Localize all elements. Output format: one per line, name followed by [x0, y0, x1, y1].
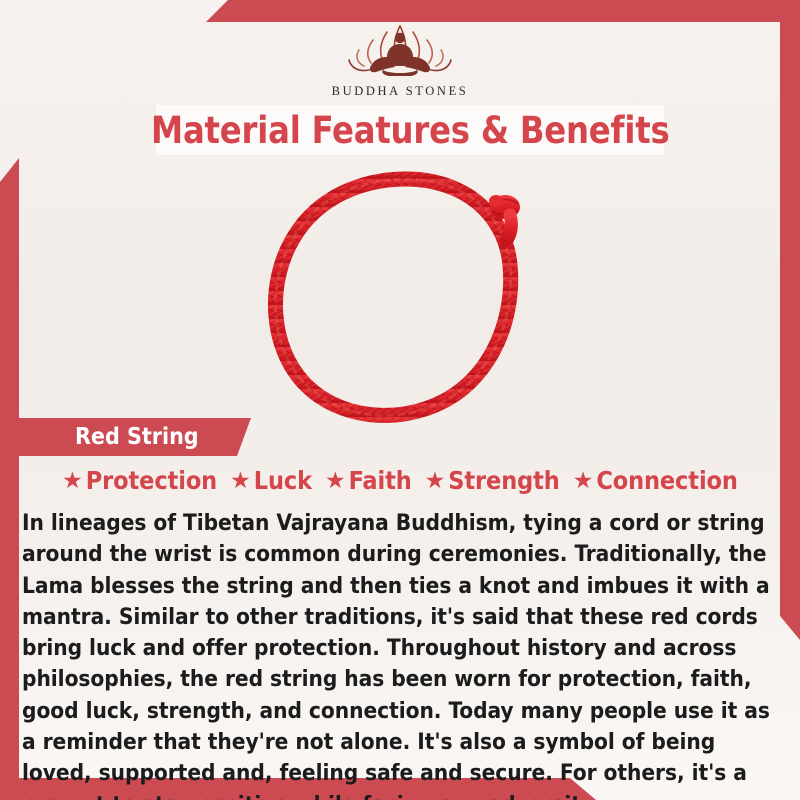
- feature-item-faith: ★ Faith: [325, 466, 412, 495]
- star-icon: ★: [230, 469, 251, 492]
- feature-label: Luck: [254, 466, 312, 495]
- brand-logo-block: BUDDHA STONES: [0, 16, 800, 99]
- page-title: Material Features & Benefits: [151, 109, 669, 152]
- description-paragraph: In lineages of Tibetan Vajrayana Buddhis…: [22, 508, 778, 800]
- lotus-meditation-icon: [325, 16, 475, 82]
- feature-label: Connection: [596, 466, 738, 495]
- feature-label: Strength: [448, 466, 559, 495]
- star-icon: ★: [62, 469, 83, 492]
- product-name-ribbon: Red String: [19, 418, 251, 456]
- star-icon: ★: [325, 469, 346, 492]
- star-icon: ★: [573, 469, 594, 492]
- title-banner: Material Features & Benefits: [156, 105, 664, 155]
- feature-item-protection: ★ Protection: [62, 466, 217, 495]
- feature-item-luck: ★ Luck: [230, 466, 312, 495]
- feature-label: Faith: [349, 466, 412, 495]
- feature-item-strength: ★ Strength: [425, 466, 560, 495]
- feature-item-connection: ★ Connection: [573, 466, 738, 495]
- product-name-label: Red String: [75, 424, 199, 450]
- product-image-area: [0, 160, 800, 440]
- feature-label: Protection: [86, 466, 217, 495]
- feature-list: ★ Protection ★ Luck ★ Faith ★ Strength ★…: [0, 466, 800, 495]
- brand-name: BUDDHA STONES: [0, 84, 800, 99]
- infographic-poster: BUDDHA STONES Material Features & Benefi…: [0, 0, 800, 800]
- red-braided-string-bracelet-icon: [258, 165, 558, 435]
- star-icon: ★: [425, 469, 446, 492]
